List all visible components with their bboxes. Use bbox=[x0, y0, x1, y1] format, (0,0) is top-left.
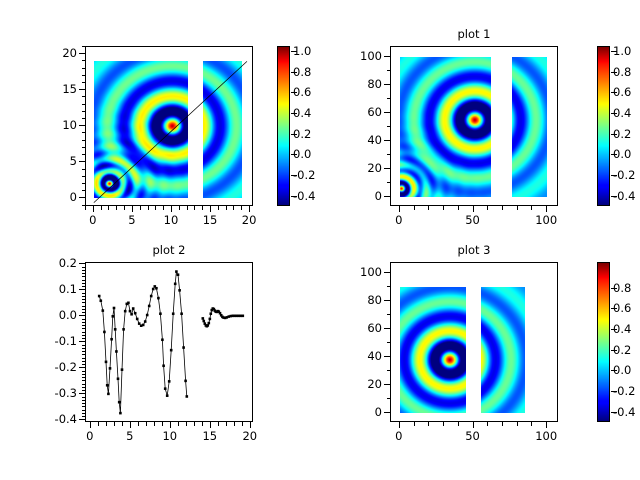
axis-ticklabel-y: 10 bbox=[33, 119, 77, 131]
axis-ticklabel-x: 100 bbox=[526, 214, 566, 226]
colorbar-ticklabel: 0.8 bbox=[293, 66, 337, 78]
axis-tick-y-minor bbox=[82, 413, 86, 414]
line-marker bbox=[113, 307, 116, 310]
line-marker bbox=[106, 384, 109, 387]
axis-tick-y-minor bbox=[82, 190, 86, 191]
axis-tick-x-minor bbox=[233, 206, 234, 210]
line-marker bbox=[105, 361, 108, 364]
axis-tick-x-minor bbox=[98, 422, 99, 426]
line-marker bbox=[155, 287, 158, 290]
axis-tick-y bbox=[79, 89, 85, 90]
line-marker bbox=[175, 270, 178, 273]
axis-tick-y bbox=[79, 53, 85, 54]
axis-ticklabel-y: 0 bbox=[338, 190, 382, 202]
line-marker bbox=[202, 320, 205, 323]
axis-tick-y bbox=[384, 196, 390, 197]
axis-tick-y-minor bbox=[82, 374, 86, 375]
axis-ticklabel-x: 20 bbox=[229, 214, 269, 226]
heatmap-patch-top-left-1 bbox=[203, 61, 242, 198]
axis-tick-y-minor bbox=[82, 283, 86, 284]
line-marker bbox=[172, 312, 175, 315]
axis-tick-x-minor bbox=[202, 422, 203, 426]
axis-tick-x bbox=[171, 206, 172, 212]
line-marker bbox=[118, 401, 121, 404]
axis-tick-y-minor bbox=[82, 132, 86, 133]
axis-ticklabel-y: 0.1 bbox=[33, 283, 77, 295]
colorbar-ticklabel: 0.2 bbox=[613, 344, 640, 356]
axis-tick-x-minor bbox=[148, 206, 149, 210]
axis-tick-y-minor bbox=[82, 270, 86, 271]
colorbar-ticklabel: -0.2 bbox=[613, 385, 640, 397]
colorbar-ticklabel: 1.0 bbox=[293, 45, 337, 57]
axis-tick-y-minor bbox=[82, 104, 86, 105]
axis-tick-x-minor bbox=[163, 206, 164, 210]
axis-tick-x-minor bbox=[138, 422, 139, 426]
colorbar-ticklabel: 0.4 bbox=[293, 107, 337, 119]
line-marker bbox=[142, 324, 145, 327]
axis-tick-x-minor bbox=[218, 206, 219, 210]
line-marker bbox=[115, 350, 118, 353]
line-marker bbox=[159, 312, 162, 315]
axis-tick-x-minor bbox=[178, 422, 179, 426]
panel-title-bottom-right: plot 3 bbox=[390, 244, 558, 256]
line-marker bbox=[112, 315, 115, 318]
axis-tick-y-minor bbox=[387, 126, 391, 127]
axis-tick-y-minor bbox=[82, 322, 86, 323]
axis-tick-x bbox=[130, 422, 131, 428]
colorbar-ticklabel: 0.0 bbox=[613, 364, 640, 376]
axis-ticklabel-y: 0 bbox=[338, 406, 382, 418]
axis-tick-x-minor bbox=[155, 206, 156, 210]
axis-tick-x-minor bbox=[186, 422, 187, 426]
colorbar-ticklabel: 0.2 bbox=[613, 128, 640, 140]
axis-tick-y-minor bbox=[82, 68, 86, 69]
axis-tick-y bbox=[79, 393, 85, 394]
axis-tick-x-minor bbox=[502, 422, 503, 426]
line-marker bbox=[132, 307, 135, 310]
line-marker bbox=[103, 331, 106, 334]
axis-tick-y-minor bbox=[82, 299, 86, 300]
line-marker bbox=[180, 312, 183, 315]
axis-tick-y-minor bbox=[82, 293, 86, 294]
axis-tick-y-minor bbox=[82, 361, 86, 362]
axis-tick-x-minor bbox=[234, 422, 235, 426]
axis-tick-y bbox=[384, 384, 390, 385]
axis-tick-y bbox=[79, 197, 85, 198]
axis-ticklabel-x: 0 bbox=[73, 214, 113, 226]
axis-tick-x-minor bbox=[242, 422, 243, 426]
line-marker bbox=[124, 310, 127, 313]
axis-tick-y-minor bbox=[82, 351, 86, 352]
axis-tick-y bbox=[384, 56, 390, 57]
axis-tick-y-minor bbox=[82, 403, 86, 404]
line-marker bbox=[210, 312, 213, 315]
axis-tick-x-minor bbox=[414, 206, 415, 210]
axis-tick-y-minor bbox=[387, 370, 391, 371]
axis-tick-y-minor bbox=[82, 75, 86, 76]
axis-tick-x bbox=[250, 422, 251, 428]
axis-ticklabel-x: 10 bbox=[150, 430, 190, 442]
colorbar-ticklabel: -0.2 bbox=[293, 169, 337, 181]
line-marker bbox=[178, 289, 181, 292]
colorbar-ticklabel: 0.0 bbox=[293, 148, 337, 160]
axis-tick-x bbox=[93, 206, 94, 212]
line-marker bbox=[161, 338, 164, 341]
line-marker bbox=[107, 393, 110, 396]
axis-tick-x-minor bbox=[108, 206, 109, 210]
axis-ticklabel-x: 50 bbox=[453, 430, 493, 442]
axis-tick-y-minor bbox=[387, 398, 391, 399]
axis-tick-y bbox=[384, 168, 390, 169]
axis-ticklabel-x: 20 bbox=[230, 430, 270, 442]
axis-tick-y-minor bbox=[82, 364, 86, 365]
axis-ticklabel-y: 0.0 bbox=[33, 309, 77, 321]
axis-tick-x-minor bbox=[101, 206, 102, 210]
line-marker bbox=[114, 328, 117, 331]
axis-tick-y-minor bbox=[82, 286, 86, 287]
panel-title-bottom-left: plot 2 bbox=[85, 244, 253, 256]
axes-frame-top-right bbox=[390, 46, 558, 206]
line-marker bbox=[144, 320, 147, 323]
axis-ticklabel-y: -0.3 bbox=[33, 387, 77, 399]
colorbar-ticklabel: 0.6 bbox=[613, 302, 640, 314]
axis-tick-y-minor bbox=[82, 387, 86, 388]
axis-tick-x bbox=[473, 206, 474, 212]
axis-tick-y bbox=[384, 328, 390, 329]
heatmap-patch-bottom-right-1 bbox=[481, 287, 525, 413]
axis-tick-x bbox=[90, 422, 91, 428]
axis-tick-y bbox=[384, 140, 390, 141]
axis-ticklabel-y: 100 bbox=[338, 266, 382, 278]
axis-tick-y-minor bbox=[82, 325, 86, 326]
axis-tick-y-minor bbox=[387, 314, 391, 315]
axis-tick-y-minor bbox=[387, 98, 391, 99]
axis-tick-y-minor bbox=[82, 302, 86, 303]
axis-tick-x bbox=[399, 422, 400, 428]
axis-ticklabel-y: 40 bbox=[338, 350, 382, 362]
axis-tick-y-minor bbox=[82, 267, 86, 268]
axis-tick-y bbox=[79, 289, 85, 290]
axis-tick-y-minor bbox=[82, 354, 86, 355]
line-marker bbox=[148, 305, 151, 308]
axis-tick-x bbox=[546, 422, 547, 428]
line-marker bbox=[150, 295, 153, 298]
line-marker bbox=[127, 302, 130, 305]
axis-ticklabel-y: 20 bbox=[33, 47, 77, 59]
axis-tick-y bbox=[79, 263, 85, 264]
line-series-segment-1 bbox=[99, 272, 187, 414]
axis-tick-y-minor bbox=[82, 111, 86, 112]
axis-tick-x-minor bbox=[458, 206, 459, 210]
axis-tick-y-minor bbox=[82, 312, 86, 313]
axis-tick-x-minor bbox=[179, 206, 180, 210]
axis-tick-x-minor bbox=[443, 422, 444, 426]
axis-tick-x-minor bbox=[531, 422, 532, 426]
axis-tick-y-minor bbox=[387, 70, 391, 71]
colorbar-ticklabel: -0.2 bbox=[613, 169, 640, 181]
axis-ticklabel-x: 100 bbox=[526, 430, 566, 442]
axis-tick-x bbox=[399, 206, 400, 212]
axis-tick-y-minor bbox=[82, 328, 86, 329]
axis-tick-x bbox=[546, 206, 547, 212]
axis-tick-x bbox=[210, 206, 211, 212]
line-marker bbox=[242, 315, 245, 318]
axis-ticklabel-y: 20 bbox=[338, 378, 382, 390]
axis-tick-x bbox=[132, 206, 133, 212]
axis-tick-y bbox=[384, 112, 390, 113]
axis-ticklabel-x: 0 bbox=[379, 214, 419, 226]
axis-ticklabel-x: 50 bbox=[453, 214, 493, 226]
axis-tick-x-minor bbox=[194, 206, 195, 210]
axis-tick-x-minor bbox=[443, 206, 444, 210]
line-marker bbox=[164, 387, 167, 390]
axis-tick-y-minor bbox=[82, 306, 86, 307]
line-marker bbox=[110, 338, 113, 341]
axis-tick-x-minor bbox=[122, 422, 123, 426]
axis-tick-y-minor bbox=[82, 309, 86, 310]
axis-tick-y-minor bbox=[387, 342, 391, 343]
axis-ticklabel-y: 80 bbox=[338, 294, 382, 306]
line-marker bbox=[109, 367, 112, 370]
axis-ticklabel-y: 40 bbox=[338, 134, 382, 146]
colorbar-ticklabel: 1.0 bbox=[613, 45, 640, 57]
line-marker bbox=[208, 322, 211, 325]
axis-tick-y-minor bbox=[82, 416, 86, 417]
axis-ticklabel-y: 15 bbox=[33, 83, 77, 95]
axis-tick-x-minor bbox=[154, 422, 155, 426]
axis-tick-y-minor bbox=[82, 371, 86, 372]
heatmap-patch-bottom-right-0 bbox=[400, 287, 466, 413]
axis-tick-x-minor bbox=[85, 206, 86, 210]
axis-ticklabel-y: 60 bbox=[338, 322, 382, 334]
axis-tick-y bbox=[384, 356, 390, 357]
axis-tick-y-minor bbox=[82, 358, 86, 359]
axis-tick-x-minor bbox=[487, 206, 488, 210]
line-marker bbox=[170, 349, 173, 352]
axis-tick-x-minor bbox=[194, 422, 195, 426]
line-marker bbox=[174, 283, 177, 286]
colorbar-ticklabel: -0.4 bbox=[613, 190, 640, 202]
line-marker bbox=[202, 317, 205, 320]
colorbar-top-right bbox=[597, 46, 610, 206]
axis-tick-x-minor bbox=[162, 422, 163, 426]
axis-tick-y-minor bbox=[82, 345, 86, 346]
panel-title-top-right: plot 1 bbox=[390, 28, 558, 40]
axis-ticklabel-y: -0.4 bbox=[33, 413, 77, 425]
axis-tick-y-minor bbox=[82, 348, 86, 349]
axis-tick-x-minor bbox=[226, 422, 227, 426]
line-marker bbox=[121, 368, 124, 371]
line-marker bbox=[122, 328, 125, 331]
axis-tick-x-minor bbox=[106, 422, 107, 426]
axis-tick-x-minor bbox=[124, 206, 125, 210]
line-marker bbox=[177, 273, 180, 276]
axis-ticklabel-x: 5 bbox=[110, 430, 150, 442]
axis-tick-y-minor bbox=[387, 286, 391, 287]
axis-tick-y-minor bbox=[82, 46, 86, 47]
colorbar-ticklabel: 0.6 bbox=[613, 86, 640, 98]
line-marker bbox=[129, 310, 132, 313]
axis-tick-y-minor bbox=[82, 176, 86, 177]
axis-tick-x bbox=[170, 422, 171, 428]
axis-tick-x-minor bbox=[226, 206, 227, 210]
line-marker bbox=[117, 377, 120, 380]
colorbar-ticklabel: 0.6 bbox=[293, 86, 337, 98]
axis-tick-y-minor bbox=[82, 319, 86, 320]
axis-tick-y-minor bbox=[82, 280, 86, 281]
axis-tick-y-minor bbox=[82, 335, 86, 336]
axis-tick-y bbox=[79, 161, 85, 162]
axis-tick-x-minor bbox=[414, 422, 415, 426]
heatmap-patch-top-left-0 bbox=[94, 61, 188, 198]
axis-ticklabel-y: 20 bbox=[338, 162, 382, 174]
axis-tick-y-minor bbox=[82, 140, 86, 141]
axis-ticklabel-x: 15 bbox=[190, 214, 230, 226]
axis-tick-y-minor bbox=[82, 400, 86, 401]
axis-tick-y bbox=[79, 341, 85, 342]
colorbar-ticklabel: -0.4 bbox=[613, 406, 640, 418]
axis-tick-y-minor bbox=[82, 406, 86, 407]
axis-tick-y bbox=[79, 367, 85, 368]
line-marker bbox=[209, 318, 212, 321]
colorbar-ticklabel: -0.4 bbox=[293, 190, 337, 202]
line-marker bbox=[186, 395, 189, 398]
axis-tick-y-minor bbox=[82, 377, 86, 378]
axis-tick-y-minor bbox=[82, 332, 86, 333]
line-marker bbox=[157, 297, 160, 300]
line-marker bbox=[136, 318, 139, 321]
axis-tick-y-minor bbox=[82, 183, 86, 184]
line-marker bbox=[184, 380, 187, 383]
axis-ticklabel-y: 0.2 bbox=[33, 257, 77, 269]
axis-tick-y bbox=[79, 419, 85, 420]
axis-tick-x-minor bbox=[517, 206, 518, 210]
colorbar-ticklabel: 0.0 bbox=[613, 148, 640, 160]
axis-ticklabel-y: 5 bbox=[33, 155, 77, 167]
colorbar-ticklabel: 0.8 bbox=[613, 282, 640, 294]
axis-tick-x-minor bbox=[202, 206, 203, 210]
axis-tick-y-minor bbox=[82, 296, 86, 297]
axis-ticklabel-x: 5 bbox=[112, 214, 152, 226]
line-marker bbox=[98, 295, 101, 298]
colorbar-ticklabel: 0.4 bbox=[613, 323, 640, 335]
axis-tick-y-minor bbox=[82, 397, 86, 398]
axis-tick-y-minor bbox=[82, 154, 86, 155]
figure-canvas: 05101520051015201.00.80.60.40.20.0-0.2-0… bbox=[0, 0, 640, 480]
line-marker bbox=[166, 394, 169, 397]
axis-tick-x-minor bbox=[531, 206, 532, 210]
axis-tick-y-minor bbox=[82, 118, 86, 119]
axes-frame-bottom-left bbox=[85, 262, 253, 422]
colorbar-ticklabel: 0.2 bbox=[293, 128, 337, 140]
axis-ticklabel-x: 0 bbox=[379, 430, 419, 442]
axis-ticklabel-y: 0 bbox=[33, 191, 77, 203]
axes-frame-bottom-right bbox=[390, 262, 558, 422]
axis-tick-x bbox=[473, 422, 474, 428]
axis-tick-x-minor bbox=[502, 206, 503, 210]
line-marker bbox=[206, 324, 209, 327]
axis-tick-x-minor bbox=[487, 422, 488, 426]
axis-tick-x bbox=[249, 206, 250, 212]
axis-tick-y-minor bbox=[82, 205, 86, 206]
axis-tick-y-minor bbox=[82, 390, 86, 391]
axis-tick-x-minor bbox=[146, 422, 147, 426]
axis-tick-y bbox=[384, 300, 390, 301]
axis-ticklabel-y: -0.1 bbox=[33, 335, 77, 347]
axis-tick-x-minor bbox=[218, 422, 219, 426]
axis-tick-y bbox=[79, 315, 85, 316]
axis-tick-y-minor bbox=[387, 182, 391, 183]
axis-tick-y-minor bbox=[387, 154, 391, 155]
axis-tick-y-minor bbox=[82, 380, 86, 381]
axis-tick-y-minor bbox=[82, 273, 86, 274]
lineplot-series-layer bbox=[86, 263, 253, 422]
axis-tick-y bbox=[384, 272, 390, 273]
line-marker bbox=[130, 313, 133, 316]
line-marker bbox=[100, 299, 103, 302]
axis-tick-y-minor bbox=[82, 410, 86, 411]
axis-tick-y bbox=[79, 125, 85, 126]
line-marker bbox=[162, 364, 165, 367]
axis-tick-y-minor bbox=[82, 60, 86, 61]
axis-tick-x-minor bbox=[116, 206, 117, 210]
axis-ticklabel-y: 100 bbox=[338, 50, 382, 62]
axis-tick-y bbox=[384, 412, 390, 413]
axis-tick-x-minor bbox=[458, 422, 459, 426]
heatmap-patch-top-right-1 bbox=[512, 57, 547, 197]
axis-tick-x-minor bbox=[517, 422, 518, 426]
axis-tick-y-minor bbox=[82, 96, 86, 97]
line-marker bbox=[168, 380, 171, 383]
axis-tick-x bbox=[210, 422, 211, 428]
line-marker bbox=[119, 412, 122, 415]
axis-ticklabel-y: -0.2 bbox=[33, 361, 77, 373]
line-marker bbox=[146, 314, 149, 317]
axis-tick-x-minor bbox=[187, 206, 188, 210]
line-marker bbox=[134, 312, 137, 315]
line-marker bbox=[182, 346, 185, 349]
axes-frame-top-left bbox=[85, 46, 253, 206]
colorbar-bottom-right bbox=[597, 262, 610, 422]
axis-ticklabel-x: 10 bbox=[151, 214, 191, 226]
line-marker bbox=[102, 309, 105, 312]
heatmap-patch-top-right-0 bbox=[400, 57, 491, 197]
colorbar-ticklabel: 0.4 bbox=[613, 107, 640, 119]
line-marker bbox=[152, 288, 155, 291]
axis-tick-x-minor bbox=[241, 206, 242, 210]
axis-ticklabel-x: 0 bbox=[70, 430, 110, 442]
axis-tick-x-minor bbox=[428, 422, 429, 426]
axis-tick-y bbox=[384, 84, 390, 85]
axis-tick-x-minor bbox=[140, 206, 141, 210]
colorbar-ticklabel: 0.8 bbox=[613, 66, 640, 78]
colorbar-top-left bbox=[277, 46, 290, 206]
axis-tick-y-minor bbox=[82, 169, 86, 170]
axis-ticklabel-x: 15 bbox=[190, 430, 230, 442]
axis-tick-y-minor bbox=[82, 384, 86, 385]
axis-tick-y-minor bbox=[82, 82, 86, 83]
axis-tick-y-minor bbox=[82, 338, 86, 339]
axis-ticklabel-y: 60 bbox=[338, 106, 382, 118]
axis-tick-y-minor bbox=[82, 147, 86, 148]
axis-tick-x-minor bbox=[428, 206, 429, 210]
axis-tick-x-minor bbox=[114, 422, 115, 426]
axis-ticklabel-y: 80 bbox=[338, 78, 382, 90]
axis-tick-y-minor bbox=[82, 276, 86, 277]
